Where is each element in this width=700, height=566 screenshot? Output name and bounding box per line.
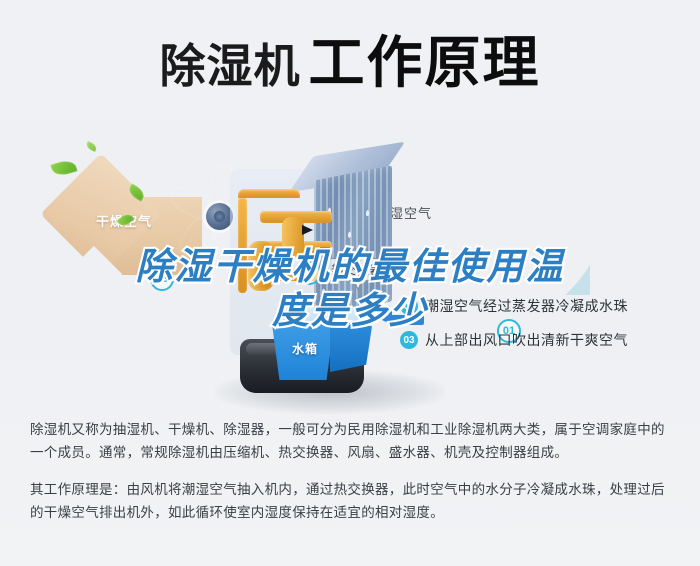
page-title-part1: 除湿机 xyxy=(160,40,301,92)
body-paragraph-2: 其工作原理是：由风机将潮湿空气抽入机内，通过热交换器，此时空气中的水分子冷凝成水… xyxy=(30,478,674,524)
legend-item: 03 从上部出风口吹出清新干爽空气 xyxy=(400,330,690,350)
overlay-headline: 除湿干燥机的最佳使用温 度是多少 xyxy=(0,245,700,333)
page-title: 除湿机工作原理 xyxy=(0,18,700,99)
overlay-headline-line1: 除湿干燥机的最佳使用温 xyxy=(0,245,700,289)
overlay-headline-line2: 度是多少 xyxy=(0,289,700,333)
legend-text: 从上部出风口吹出清新干爽空气 xyxy=(425,330,628,350)
body-paragraph-1: 除湿机又称为抽湿机、干燥机、除湿器，一般可分为民用除湿机和工业除湿机两大类，属于… xyxy=(30,418,674,464)
infographic-page: 除湿机工作原理 潮湿空气 干燥空气 xyxy=(0,0,700,566)
leaf-icon xyxy=(85,141,98,152)
water-tank-label: 水箱 xyxy=(292,340,318,357)
flow-arrow-right-icon xyxy=(302,225,313,235)
legend-badge: 03 xyxy=(400,331,418,349)
page-title-part2: 工作原理 xyxy=(309,31,541,94)
pipe-segment xyxy=(238,189,300,198)
article-body: 除湿机又称为抽湿机、干燥机、除湿器，一般可分为民用除湿机和工业除湿机两大类，属于… xyxy=(30,418,674,532)
